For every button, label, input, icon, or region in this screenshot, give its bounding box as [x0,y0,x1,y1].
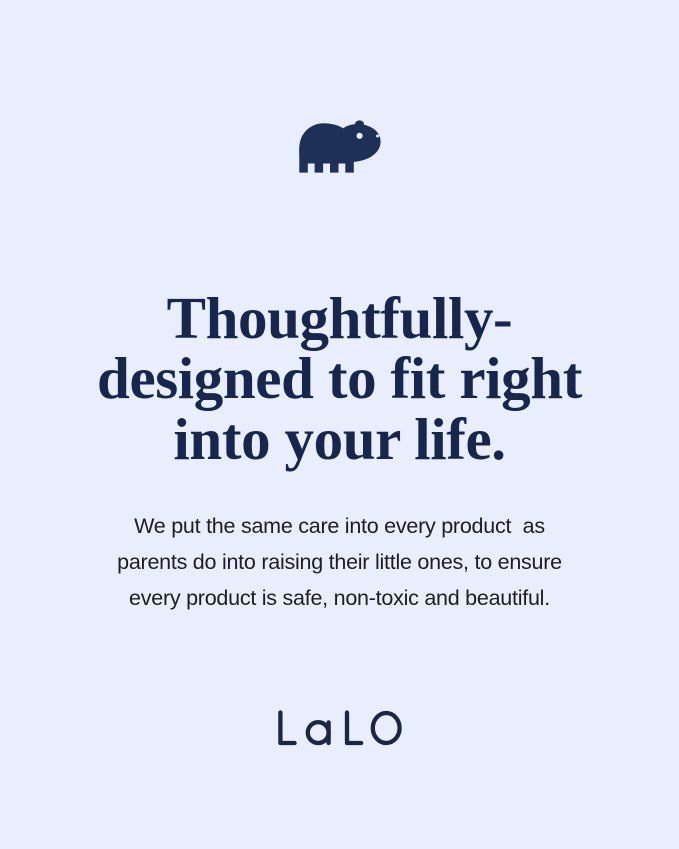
wordmark-letter-o [372,713,399,743]
headline-line-1: Thoughtfully- [0,288,679,349]
headline-line-2: designed to fit right [0,348,679,409]
page-title: Thoughtfully- designed to fit right into… [0,288,679,470]
lalo-wordmark-icon: LaLO [276,706,404,750]
hippo-nostril [376,135,379,138]
wordmark-letter-l2 [347,713,361,744]
brand-wordmark: LaLO [0,706,679,750]
wordmark-letter-l1 [280,713,294,744]
promotional-poster: Lalo hippo logo Thoughtfully- designed t… [0,0,679,849]
wordmark-letter-a-bowl [307,722,328,743]
headline-line-3: into your life. [0,409,679,470]
brand-logo: Lalo hippo logo [0,118,679,174]
hippo-eye [356,133,362,139]
body-line-3: every product is safe, non-toxic and bea… [0,580,679,616]
body-line-1: We put the same care into every product … [0,508,679,544]
hippo-icon: Lalo hippo logo [297,118,383,174]
body-line-2: parents do into raising their little one… [0,544,679,580]
hippo-body [299,123,380,172]
body-paragraph: We put the same care into every product … [0,508,679,616]
